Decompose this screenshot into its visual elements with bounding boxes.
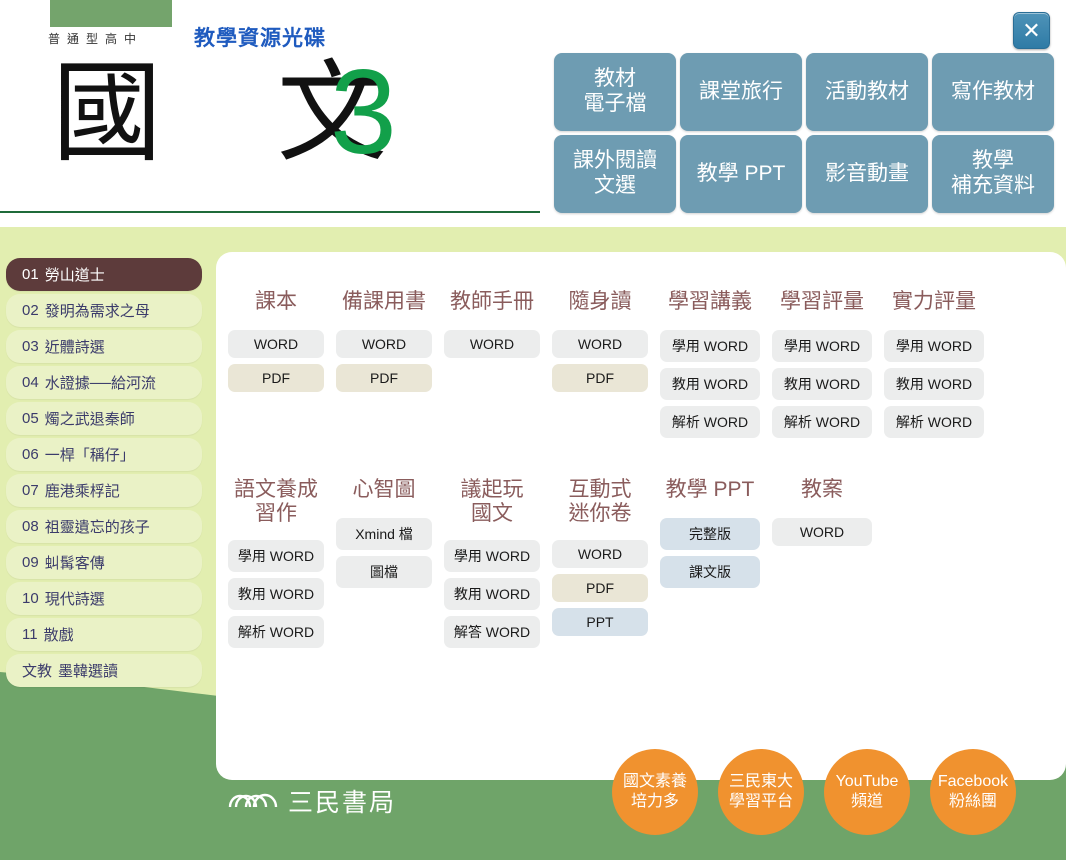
resource-chip[interactable]: WORD	[552, 330, 648, 358]
resource-column: 教師手冊WORD	[438, 290, 546, 444]
sidebar-item[interactable]: 09虯髯客傳	[6, 546, 202, 579]
footer-link-label: 國文素養 培力多	[623, 772, 687, 811]
nav-button[interactable]: 活動教材	[806, 53, 928, 131]
resource-column: 學習講義學用 WORD教用 WORD解析 WORD	[654, 290, 766, 444]
top-navigation: 教材 電子檔課堂旅行活動教材寫作教材課外閱讀 文選教學 PPT影音動畫教學 補充…	[554, 53, 1054, 213]
sidebar-item[interactable]: 文教墨韓選讀	[6, 654, 202, 687]
sidebar-item-number: 02	[22, 302, 39, 319]
sidebar-item-number: 04	[22, 374, 39, 391]
resource-column-header: 教學 PPT	[666, 478, 755, 504]
resource-chip[interactable]: Xmind 檔	[336, 518, 432, 550]
resource-chip[interactable]: 教用 WORD	[228, 578, 324, 610]
resource-chip[interactable]: 解析 WORD	[772, 406, 872, 438]
nav-button[interactable]: 課外閱讀 文選	[554, 135, 676, 213]
nav-button[interactable]: 課堂旅行	[680, 53, 802, 131]
resource-column: 隨身讀WORDPDF	[546, 290, 654, 444]
resource-chip[interactable]: PDF	[552, 364, 648, 392]
resource-column-header: 實力評量	[892, 290, 976, 316]
footer-links: 國文素養 培力多三民東大 學習平台YouTube 頻道Facebook 粉絲團	[612, 749, 1016, 835]
resource-chip[interactable]: PDF	[552, 574, 648, 602]
sidebar-item-label: 虯髯客傳	[45, 552, 105, 573]
sidebar-item[interactable]: 04水證據──給河流	[6, 366, 202, 399]
resource-column: 議起玩 國文學用 WORD教用 WORD解答 WORD	[438, 478, 546, 654]
resource-column-header: 隨身讀	[569, 290, 632, 316]
sidebar-item-number: 11	[22, 626, 38, 643]
resource-chip[interactable]: 教用 WORD	[660, 368, 760, 400]
footer-link-circle[interactable]: 國文素養 培力多	[612, 749, 698, 835]
resource-column-header: 教案	[801, 478, 843, 504]
sidebar-item-label: 鹿港乘桴記	[45, 480, 120, 501]
resource-column: 語文養成 習作學用 WORD教用 WORD解析 WORD	[222, 478, 330, 654]
sidebar-item[interactable]: 02發明為需求之母	[6, 294, 202, 327]
nav-button-label: 寫作教材	[951, 80, 1035, 105]
resource-chip[interactable]: 完整版	[660, 518, 760, 550]
sidebar-item[interactable]: 01勞山道士	[6, 258, 202, 291]
sidebar-item[interactable]: 06一桿「稱仔」	[6, 438, 202, 471]
sidebar-item-number: 06	[22, 446, 39, 463]
arch-logo-icon	[228, 783, 284, 809]
nav-button-label: 教學 補充資料	[951, 149, 1035, 199]
sidebar-item-label: 祖靈遺忘的孩子	[45, 516, 150, 537]
resource-column: 心智圖Xmind 檔圖檔	[330, 478, 438, 654]
sidebar-item[interactable]: 11散戲	[6, 618, 202, 651]
header-subtitle: 普通型高中	[48, 30, 178, 47]
publisher-logo: 三民書局	[228, 783, 368, 817]
resource-column-header: 教師手冊	[450, 290, 534, 316]
resource-column-header: 學習評量	[780, 290, 864, 316]
resource-column: 實力評量學用 WORD教用 WORD解析 WORD	[878, 290, 990, 444]
resource-chip[interactable]: 學用 WORD	[884, 330, 984, 362]
header-divider	[0, 211, 540, 213]
app-root: 普通型高中 教學資源光碟 國 文 3 ✕ 教材 電子檔課堂旅行活動教材寫作教材課…	[0, 0, 1066, 852]
resource-chip[interactable]: 教用 WORD	[444, 578, 540, 610]
sidebar-item-number: 10	[22, 590, 39, 607]
sidebar-item-label: 一桿「稱仔」	[45, 444, 135, 465]
resource-chip[interactable]: 解答 WORD	[444, 616, 540, 648]
close-button[interactable]: ✕	[1013, 12, 1050, 49]
sidebar-item[interactable]: 03近體詩選	[6, 330, 202, 363]
nav-button[interactable]: 教學 補充資料	[932, 135, 1054, 213]
resource-grid-row-2: 語文養成 習作學用 WORD教用 WORD解析 WORD心智圖Xmind 檔圖檔…	[222, 478, 1060, 654]
lesson-sidebar: 01勞山道士02發明為需求之母03近體詩選04水證據──給河流05燭之武退秦師0…	[6, 258, 202, 690]
resource-column-header: 互動式 迷你卷	[569, 478, 632, 526]
resource-column-header: 心智圖	[353, 478, 416, 504]
resource-chip[interactable]: WORD	[552, 540, 648, 568]
footer-link-circle[interactable]: 三民東大 學習平台	[718, 749, 804, 835]
volume-number: 3	[330, 52, 397, 172]
sidebar-item-label: 墨韓選讀	[58, 660, 118, 681]
resource-chip[interactable]: 學用 WORD	[660, 330, 760, 362]
sidebar-item[interactable]: 10現代詩選	[6, 582, 202, 615]
sidebar-item-number: 08	[22, 518, 39, 535]
resource-chip[interactable]: WORD	[772, 518, 872, 546]
resource-column-header: 備課用書	[342, 290, 426, 316]
sidebar-item-label: 散戲	[44, 624, 74, 645]
publisher-name: 三民書局	[288, 783, 396, 819]
resource-chip[interactable]: 解析 WORD	[884, 406, 984, 438]
resource-chip[interactable]: PDF	[228, 364, 324, 392]
nav-button-label: 課外閱讀 文選	[573, 149, 657, 199]
nav-button-label: 教材 電子檔	[584, 67, 647, 117]
resource-chip[interactable]: WORD	[336, 330, 432, 358]
footer-link-label: 三民東大 學習平台	[729, 772, 793, 811]
sidebar-item-number: 01	[22, 266, 39, 283]
page-title: 教學資源光碟	[194, 22, 326, 52]
sidebar-item-label: 發明為需求之母	[45, 300, 150, 321]
sidebar-item-label: 勞山道士	[45, 264, 105, 285]
resource-chip[interactable]: 課文版	[660, 556, 760, 588]
nav-button[interactable]: 教學 PPT	[680, 135, 802, 213]
resource-chip[interactable]: WORD	[228, 330, 324, 358]
nav-button[interactable]: 影音動畫	[806, 135, 928, 213]
resource-column-header: 課本	[255, 290, 297, 316]
resource-column: 學習評量學用 WORD教用 WORD解析 WORD	[766, 290, 878, 444]
sidebar-item[interactable]: 08祖靈遺忘的孩子	[6, 510, 202, 543]
resource-chip[interactable]: 解析 WORD	[228, 616, 324, 648]
resource-column: 互動式 迷你卷WORDPDFPPT	[546, 478, 654, 654]
resource-column-header: 議起玩 國文	[461, 478, 524, 526]
nav-button[interactable]: 寫作教材	[932, 53, 1054, 131]
sidebar-item-label: 現代詩選	[45, 588, 105, 609]
footer-link-label: Facebook 粉絲團	[938, 772, 1008, 811]
sidebar-item-number: 09	[22, 554, 39, 571]
sidebar-item[interactable]: 05燭之武退秦師	[6, 402, 202, 435]
resource-grid: 課本WORDPDF備課用書WORDPDF教師手冊WORD隨身讀WORDPDF學習…	[222, 290, 1060, 654]
nav-button[interactable]: 教材 電子檔	[554, 53, 676, 131]
sidebar-item-label: 燭之武退秦師	[45, 408, 135, 429]
resource-chip[interactable]: 解析 WORD	[660, 406, 760, 438]
resource-chip[interactable]: 教用 WORD	[772, 368, 872, 400]
resource-chip[interactable]: PPT	[552, 608, 648, 636]
footer-link-circle[interactable]: Facebook 粉絲團	[930, 749, 1016, 835]
sidebar-item-number: 05	[22, 410, 39, 427]
header-green-block	[50, 0, 172, 27]
nav-button-label: 活動教材	[825, 80, 909, 105]
sidebar-item-number: 03	[22, 338, 39, 355]
resource-column: 教學 PPT完整版課文版	[654, 478, 766, 654]
resource-column: 課本WORDPDF	[222, 290, 330, 444]
resource-chip[interactable]: PDF	[336, 364, 432, 392]
resource-chip[interactable]: 圖檔	[336, 556, 432, 588]
footer-link-label: YouTube 頻道	[836, 772, 899, 811]
resource-chip[interactable]: 學用 WORD	[444, 540, 540, 572]
sidebar-item-number: 文教	[22, 660, 52, 681]
resource-chip[interactable]: 學用 WORD	[228, 540, 324, 572]
resource-column-header: 學習講義	[668, 290, 752, 316]
resource-chip[interactable]: 學用 WORD	[772, 330, 872, 362]
nav-button-label: 影音動畫	[825, 162, 909, 187]
resource-chip[interactable]: WORD	[444, 330, 540, 358]
sidebar-item-number: 07	[22, 482, 39, 499]
close-icon: ✕	[1014, 13, 1049, 48]
resource-column: 備課用書WORDPDF	[330, 290, 438, 444]
sidebar-item-label: 近體詩選	[45, 336, 105, 357]
sidebar-item[interactable]: 07鹿港乘桴記	[6, 474, 202, 507]
footer-link-circle[interactable]: YouTube 頻道	[824, 749, 910, 835]
nav-button-label: 教學 PPT	[697, 162, 786, 187]
sidebar-item-label: 水證據──給河流	[45, 372, 156, 393]
resource-chip[interactable]: 教用 WORD	[884, 368, 984, 400]
resource-column-header: 語文養成 習作	[234, 478, 318, 526]
resource-grid-row-1: 課本WORDPDF備課用書WORDPDF教師手冊WORD隨身讀WORDPDF學習…	[222, 290, 1060, 444]
resource-column: 教案WORD	[766, 478, 878, 654]
nav-button-label: 課堂旅行	[699, 80, 783, 105]
